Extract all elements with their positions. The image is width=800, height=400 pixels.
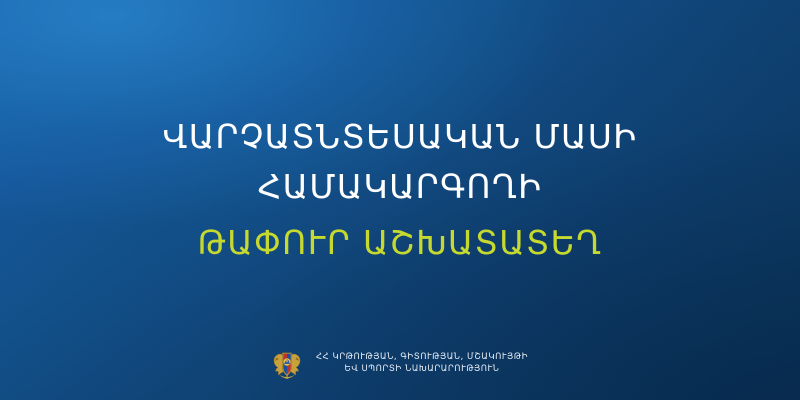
headline-line-1: ՎԱՐՉԱՏՆՏԵՍԱԿԱՆ ՄԱՍԻ xyxy=(0,112,800,162)
headline-line-3-vacancy: ԹԱՓՈՒՐ ԱՇԽԱՏԱՏԵՂ xyxy=(0,218,800,268)
ministry-name-line-2: ԵՎ ՍՊՈՐՏԻ ՆԱԽԱՐԱՐՈՒԹՅՈՒՆ xyxy=(316,363,528,376)
headline-block: ՎԱՐՉԱՏՆՏԵՍԱԿԱՆ ՄԱՍԻ ՀԱՄԱԿԱՐԳՈՂԻ ԹԱՓՈՒՐ Ա… xyxy=(0,112,800,268)
ministry-name-line-1: ՀՀ ԿՐԹՈՒԹՅԱՆ, ԳԻՏՈՒԹՅԱՆ, ՄՇԱԿՈՒՅԹԻ xyxy=(316,351,528,364)
footer-bar: ՀՀ ԿՐԹՈՒԹՅԱՆ, ԳԻՏՈՒԹՅԱՆ, ՄՇԱԿՈՒՅԹԻ ԵՎ ՍՊ… xyxy=(0,334,800,392)
ministry-name: ՀՀ ԿՐԹՈՒԹՅԱՆ, ԳԻՏՈՒԹՅԱՆ, ՄՇԱԿՈՒՅԹԻ ԵՎ ՍՊ… xyxy=(316,351,528,376)
announcement-poster: ՎԱՐՉԱՏՆՏԵՍԱԿԱՆ ՄԱՍԻ ՀԱՄԱԿԱՐԳՈՂԻ ԹԱՓՈՒՐ Ա… xyxy=(0,0,800,400)
armenia-coat-of-arms-icon xyxy=(272,346,302,380)
headline-line-2: ՀԱՄԱԿԱՐԳՈՂԻ xyxy=(0,162,800,212)
